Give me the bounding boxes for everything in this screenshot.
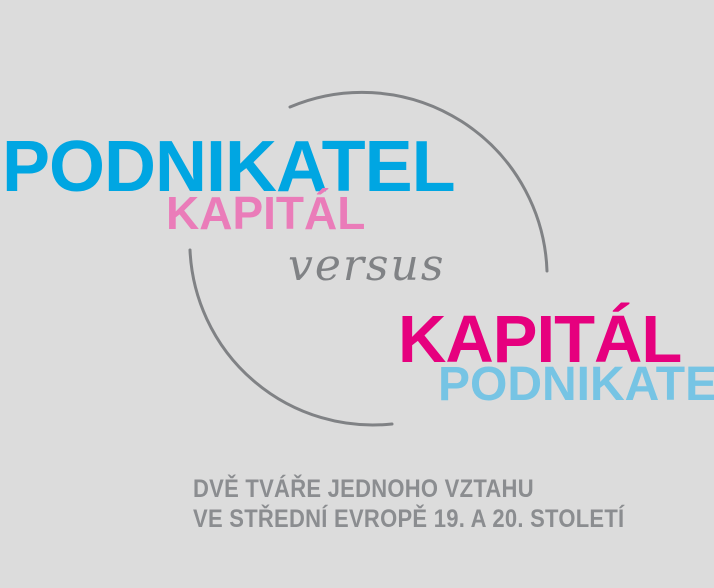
headline-connector: versus (288, 244, 445, 288)
poster-canvas: PODNIKATEL KAPITÁL versus KAPITÁL PODNIK… (0, 0, 714, 588)
subtitle: DVĚ TVÁŘE JEDNOHO VZTAHU VE STŘEDNÍ EVRO… (193, 474, 624, 534)
subtitle-line-2: VE STŘEDNÍ EVROPĚ 19. A 20. STOLETÍ (193, 504, 624, 534)
subtitle-line-1: DVĚ TVÁŘE JEDNOHO VZTAHU (193, 474, 624, 504)
headline-bottom-secondary: PODNIKATEL (438, 361, 714, 409)
headline-top-secondary: KAPITÁL (166, 190, 365, 236)
